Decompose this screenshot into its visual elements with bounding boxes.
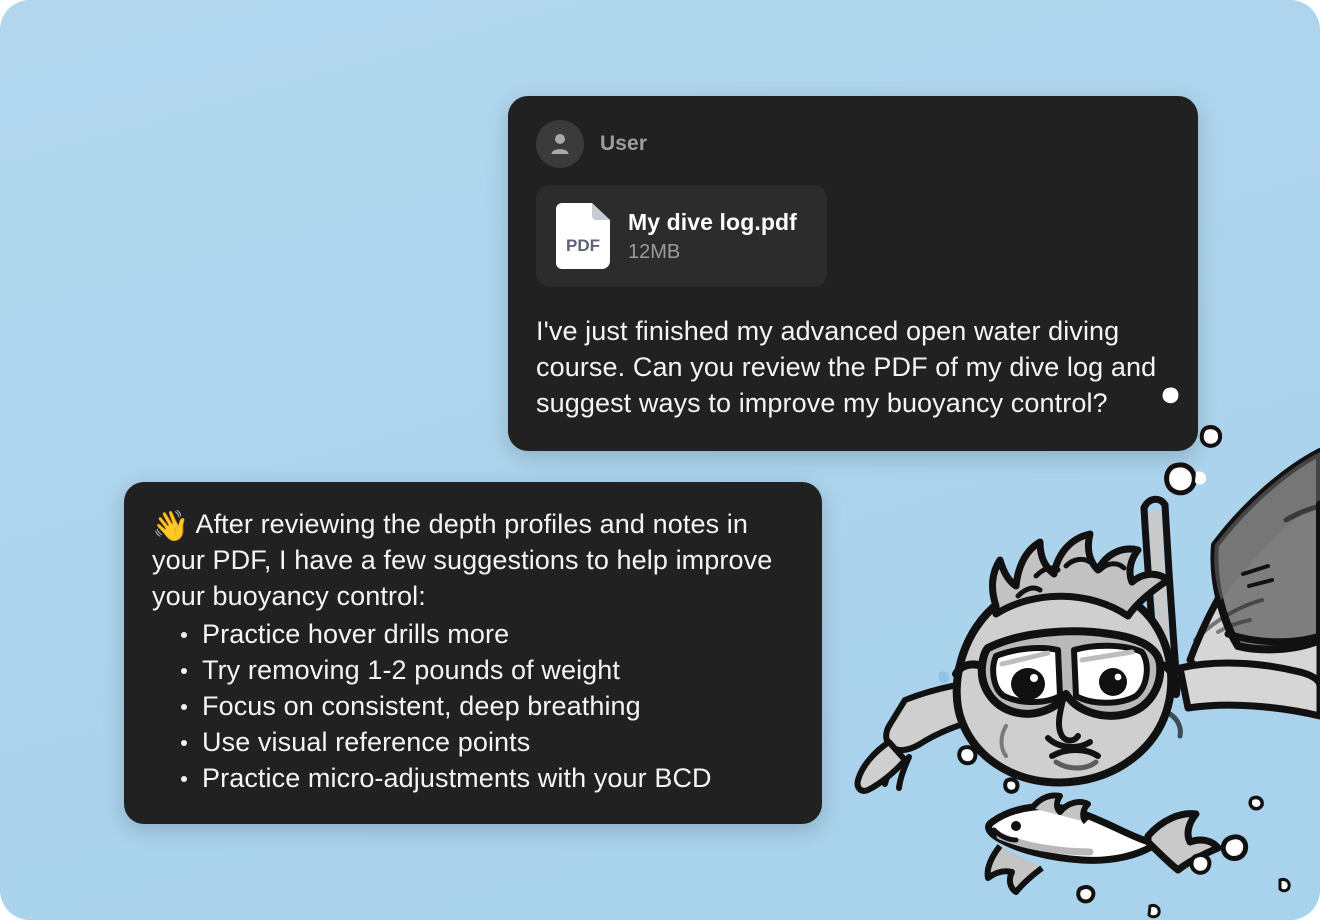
list-item: Focus on consistent, deep breathing (174, 688, 794, 724)
file-size: 12MB (628, 241, 797, 264)
assistant-message-bubble: 👋After reviewing the depth profiles and … (124, 482, 822, 824)
assistant-intro-text: 👋After reviewing the depth profiles and … (152, 506, 794, 614)
pdf-file-icon: PDF (556, 203, 610, 269)
list-item: Practice hover drills more (174, 616, 794, 652)
snorkeler-figure (858, 452, 1320, 791)
list-item: Use visual reference points (174, 724, 794, 760)
assistant-intro-label: After reviewing the depth profiles and n… (152, 509, 772, 611)
file-meta: My dive log.pdf 12MB (628, 209, 797, 264)
chat-screenshot: User PDF My dive log.pdf 12MB I've just … (0, 0, 1320, 920)
pdf-icon-label: PDF (566, 236, 600, 255)
list-item: Try removing 1-2 pounds of weight (174, 652, 794, 688)
air-bubbles (939, 384, 1290, 917)
avatar (536, 120, 584, 168)
user-message-bubble: User PDF My dive log.pdf 12MB I've just … (508, 96, 1198, 451)
fish-illustration (988, 796, 1218, 893)
user-header: User (536, 120, 1170, 168)
list-item: Practice micro-adjustments with your BCD (174, 760, 794, 796)
file-attachment-card[interactable]: PDF My dive log.pdf 12MB (536, 185, 827, 287)
person-icon (547, 131, 573, 157)
waving-hand-emoji: 👋 (152, 510, 189, 543)
file-name: My dive log.pdf (628, 209, 797, 236)
suggestions-list: Practice hover drills more Try removing … (152, 616, 794, 796)
user-message-text: I've just finished my advanced open wate… (536, 313, 1170, 421)
user-name-label: User (600, 132, 647, 156)
